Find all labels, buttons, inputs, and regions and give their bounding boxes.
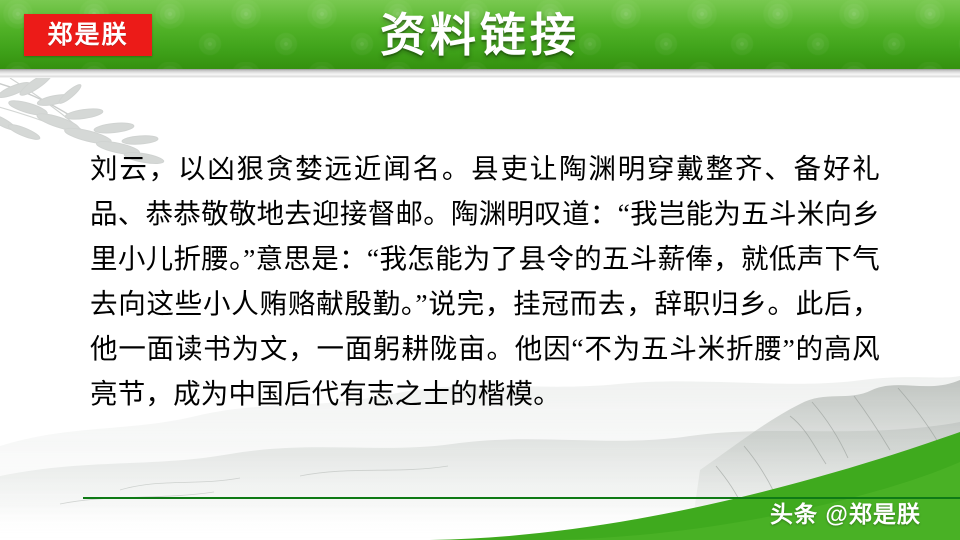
silver-bar-divider [0, 69, 960, 78]
body-paragraph: 刘云，以凶狠贪婪远近闻名。县吏让陶渊明穿戴整齐、备好礼品、恭恭敬敬地去迎接督邮。… [90, 146, 880, 416]
slide-canvas: 郑是朕 资料链接 刘云，以凶狠贪婪远近闻名。县吏让陶渊明穿戴整齐、备好礼品、恭恭… [0, 0, 960, 540]
page-title: 资料链接 [0, 5, 960, 65]
watermark-label: 头条 @郑是朕 [770, 497, 950, 531]
